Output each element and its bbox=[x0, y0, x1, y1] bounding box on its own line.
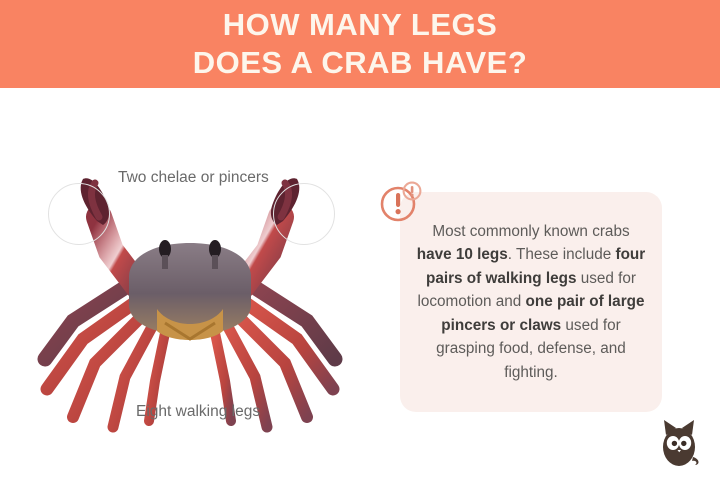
header-banner: HOW MANY LEGS DOES A CRAB HAVE? bbox=[0, 0, 720, 88]
info-panel-text: Most commonly known crabs have 10 legs. … bbox=[414, 220, 648, 385]
info-panel: Most commonly known crabs have 10 legs. … bbox=[400, 192, 662, 412]
page-title-line-1: HOW MANY LEGS bbox=[223, 6, 498, 44]
cat-logo bbox=[658, 417, 704, 469]
pincer-highlight-left bbox=[48, 183, 110, 245]
info-text-run: . These include bbox=[508, 246, 616, 263]
info-text-run: Most commonly known crabs bbox=[432, 223, 629, 240]
info-text-emphasis: have 10 legs bbox=[417, 246, 508, 263]
page-title-line-2: DOES A CRAB HAVE? bbox=[193, 44, 528, 82]
pincer-highlight-right bbox=[273, 183, 335, 245]
label-eight-walking-legs: Eight walking legs bbox=[136, 403, 260, 421]
exclamation-circle-icon bbox=[379, 179, 425, 225]
crab-figure: Two chelae or pincers Eight walking legs bbox=[0, 88, 380, 480]
label-two-chelae-or-pincers: Two chelae or pincers bbox=[118, 169, 269, 187]
